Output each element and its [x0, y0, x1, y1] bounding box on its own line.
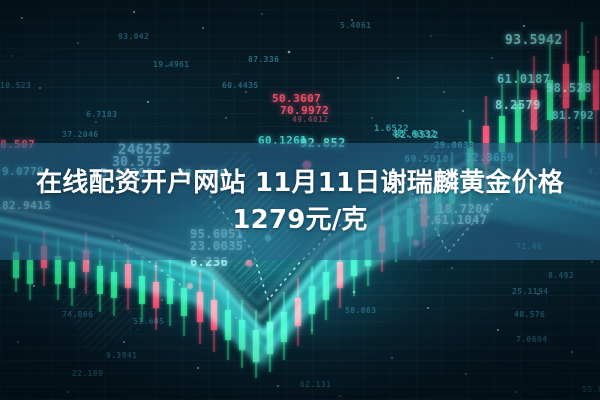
title-overlay-band: 在线配资开户网站 11月11日谢瑞麟黄金价格1279元/克 [0, 143, 600, 260]
screenshot-canvas: 93.594261.018798.5288.257981.79250.36077… [0, 0, 600, 400]
page-title: 在线配资开户网站 11月11日谢瑞麟黄金价格1279元/克 [20, 165, 580, 238]
